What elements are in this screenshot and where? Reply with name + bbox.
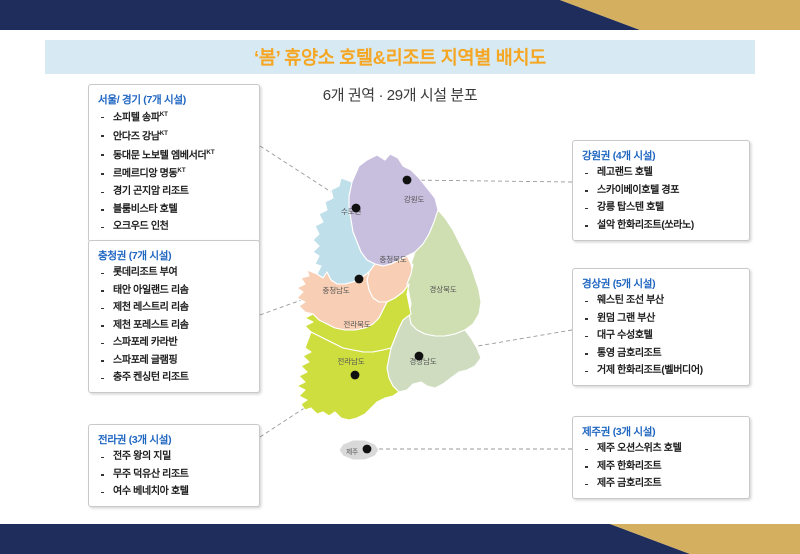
footer-navy-shape xyxy=(0,524,690,554)
list-item: 제천 포레스트 리솜 xyxy=(98,321,250,331)
list-item: 레고랜드 호텔 xyxy=(582,168,740,178)
korea-map: 수도권 강원도 충청북도 충청남도 경상북도 경상남도 전라북도 전라남도 제주 xyxy=(295,152,500,470)
kt-superscript: KT xyxy=(160,111,168,118)
map-label-gangwon: 강원도 xyxy=(404,194,425,204)
map-label-jeju: 제주 xyxy=(346,448,358,456)
facility-list-jeolla: 전주 왕의 지밀 무주 덕유산 리조트 여수 베네치아 호텔 xyxy=(98,452,250,497)
panel-gyeongsang[interactable]: 경상권 (5개 시설) 웨스틴 조선 부산 윈덤 그랜 부산 대구 수성호텔 통… xyxy=(572,268,750,386)
panel-gangwon[interactable]: 강원권 (4개 시설) 레고랜드 호텔 스카이베이호텔 경포 강릉 탑스텐 호텔… xyxy=(572,140,750,241)
panel-jeju[interactable]: 제주권 (3개 시설) 제주 오션스위츠 호텔 제주 한화리조트 제주 금호리조… xyxy=(572,416,750,499)
map-label-chungbuk: 충청북도 xyxy=(379,255,406,264)
header-navy-shape xyxy=(0,0,640,30)
list-item: 르메르디앙 명동KT xyxy=(98,168,250,179)
panel-title-gangwon: 강원권 (4개 시설) xyxy=(582,148,740,163)
list-item: 윈덤 그랜 부산 xyxy=(582,314,740,324)
panel-title-seoul: 서울/ 경기 (7개 시설) xyxy=(98,92,250,107)
facility-list-gangwon: 레고랜드 호텔 스카이베이호텔 경포 강릉 탑스텐 호텔 설악 한화리조트(쏘라… xyxy=(582,168,740,231)
list-item: 제천 레스트리 리솜 xyxy=(98,303,250,313)
list-item: 전주 왕의 지밀 xyxy=(98,452,250,462)
map-label-jeonbuk: 전라북도 xyxy=(343,319,370,329)
footer-decor-bar xyxy=(0,524,800,554)
marker-gangwon xyxy=(403,176,412,185)
list-item: 제주 금호리조트 xyxy=(582,479,740,489)
map-label-chungnam: 충청남도 xyxy=(322,286,349,295)
page-title: ‘봄’ 휴양소 호텔&리조트 지역별 배치도 xyxy=(254,44,546,70)
list-item: 웨스틴 조선 부산 xyxy=(582,296,740,306)
list-item: 경기 곤지암 리조트 xyxy=(98,187,250,197)
map-label-gyeongbuk: 경상북도 xyxy=(429,284,456,294)
marker-jeolla xyxy=(351,371,360,380)
list-item: 제주 한화리조트 xyxy=(582,462,740,472)
list-item: 설악 한화리조트(쏘라노) xyxy=(582,221,740,231)
list-item: 스파포레 글램핑 xyxy=(98,356,250,366)
marker-jeju xyxy=(363,445,372,454)
panel-title-jeolla: 전라권 (3개 시설) xyxy=(98,432,250,447)
panel-title-jeju: 제주권 (3개 시설) xyxy=(582,424,740,439)
panel-jeolla[interactable]: 전라권 (3개 시설) 전주 왕의 지밀 무주 덕유산 리조트 여수 베네치아 … xyxy=(88,424,260,507)
province-jeju xyxy=(339,440,379,460)
list-item: 스카이베이호텔 경포 xyxy=(582,186,740,196)
infographic-page: ‘봄’ 휴양소 호텔&리조트 지역별 배치도 6개 권역 · 29개 시설 분포 xyxy=(0,0,800,554)
panel-chungcheong[interactable]: 충청권 (7개 시설) 롯데리조트 부여 태안 아일랜드 리솜 제천 레스트리 … xyxy=(88,240,260,393)
list-item: 동대문 노보텔 엠베서더KT xyxy=(98,150,250,161)
list-item: 오크우드 인천 xyxy=(98,222,250,232)
list-item: 통영 금호리조트 xyxy=(582,349,740,359)
title-band: ‘봄’ 휴양소 호텔&리조트 지역별 배치도 xyxy=(45,40,755,74)
list-item: 제주 오션스위츠 호텔 xyxy=(582,444,740,454)
facility-list-seoul: 소피텔 송파KT 안다즈 강남KT 동대문 노보텔 엠베서더KT 르메르디앙 명… xyxy=(98,112,250,232)
marker-gyeongnam xyxy=(415,352,424,361)
page-subtitle: 6개 권역 · 29개 시설 분포 xyxy=(280,84,520,105)
panel-title-chungcheong: 충청권 (7개 시설) xyxy=(98,248,250,263)
panel-title-gyeongsang: 경상권 (5개 시설) xyxy=(582,276,740,291)
facility-list-jeju: 제주 오션스위츠 호텔 제주 한화리조트 제주 금호리조트 xyxy=(582,444,740,489)
list-item: 태안 아일랜드 리솜 xyxy=(98,286,250,296)
kt-superscript: KT xyxy=(206,149,214,156)
facility-list-gyeongsang: 웨스틴 조선 부산 윈덤 그랜 부산 대구 수성호텔 통영 금호리조트 거제 한… xyxy=(582,296,740,376)
list-item: 안다즈 강남KT xyxy=(98,131,250,142)
header-decor-bar xyxy=(0,0,800,30)
list-item: 롯데리조트 부여 xyxy=(98,268,250,278)
marker-sudogwon xyxy=(352,204,361,213)
list-item: 무주 덕유산 리조트 xyxy=(98,470,250,480)
list-item: 소피텔 송파KT xyxy=(98,112,250,123)
list-item: 충주 켄싱턴 리조트 xyxy=(98,373,250,383)
facility-list-chungcheong: 롯데리조트 부여 태안 아일랜드 리솜 제천 레스트리 리솜 제천 포레스트 리… xyxy=(98,268,250,383)
list-item: 거제 한화리조트(벨버디어) xyxy=(582,366,740,376)
kt-superscript: KT xyxy=(177,167,185,174)
marker-chungnam xyxy=(355,275,364,284)
list-item: 대구 수성호텔 xyxy=(582,331,740,341)
list-item: 강릉 탑스텐 호텔 xyxy=(582,203,740,213)
list-item: 블룸비스타 호텔 xyxy=(98,205,250,215)
panel-seoul-gyeonggi[interactable]: 서울/ 경기 (7개 시설) 소피텔 송파KT 안다즈 강남KT 동대문 노보텔… xyxy=(88,84,260,242)
kt-superscript: KT xyxy=(160,130,168,137)
list-item: 스파포레 카라반 xyxy=(98,338,250,348)
map-label-jeonnam: 전라남도 xyxy=(337,356,364,366)
list-item: 여수 베네치아 호텔 xyxy=(98,487,250,497)
